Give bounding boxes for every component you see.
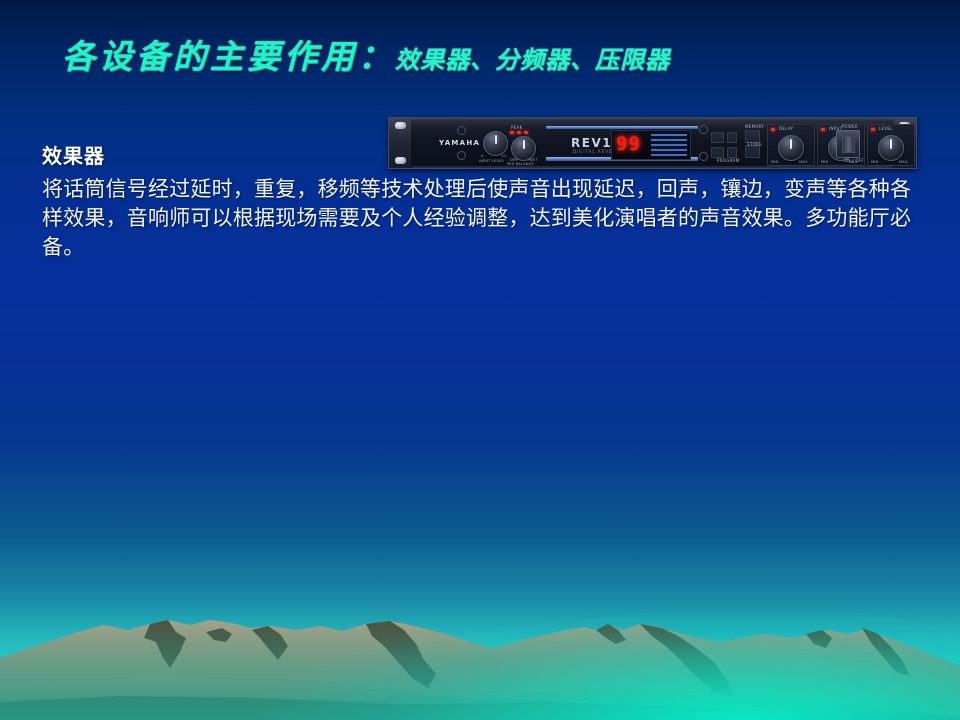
peak-led-icon — [517, 131, 521, 134]
knob-input-level-label: INPUT LEVEL — [479, 159, 504, 163]
program-up-button[interactable] — [711, 147, 724, 158]
slide-title-sub: 效果器、分频器、压限器 — [395, 40, 670, 75]
knob-delay-label: DELAY — [779, 126, 793, 131]
knob-delay-max: MAX — [799, 160, 808, 164]
input-led-icon — [821, 128, 825, 131]
knob-input-level-min: 0 — [481, 154, 484, 158]
knob-input-level[interactable] — [483, 131, 508, 156]
program-select-up-button[interactable] — [727, 132, 737, 143]
panel-screw-icon — [457, 151, 466, 160]
panel-screw-icon — [457, 126, 466, 135]
peak-meter-label: PEAK — [511, 125, 523, 130]
power-switch[interactable] — [836, 130, 860, 158]
slide-title: 各设备的主要作用： 效果器、分频器、压限器 — [62, 30, 670, 78]
knob-level-min: MIN — [871, 160, 878, 164]
rack-screw-icon — [395, 122, 406, 129]
display-parameter-list — [651, 134, 687, 156]
yamaha-rev100-device-image: YAMAHA INPUT LEVEL 0 10 PEAK MIX BALANCE… — [388, 117, 917, 169]
knob-input-level-max: 10 — [501, 154, 506, 158]
section-paragraph: 将话筒信号经过延时，重复，移频等技术处理后使声音出现延迟，回声，镶边，变声等各种… — [42, 175, 932, 262]
knob-delay[interactable] — [778, 135, 804, 161]
program-number-display: 99 — [611, 130, 691, 160]
program-number-value: 99 — [616, 135, 641, 154]
power-state-label: ON / OFF — [844, 158, 864, 163]
store-button-label: STORE — [747, 142, 762, 147]
power-label: POWER — [842, 124, 858, 129]
slide-title-main: 各设备的主要作用： — [62, 30, 395, 78]
mountain-landscape-graphic — [0, 590, 960, 720]
level-led-icon — [871, 128, 875, 131]
knob-mix-balance-label: MIX BALANCE — [507, 162, 534, 166]
panel-accent-strip-top — [546, 126, 698, 129]
rack-ear-left — [389, 118, 413, 168]
yamaha-brand-logo: YAMAHA — [439, 139, 480, 147]
memory-button-label: MEMORY — [745, 124, 764, 129]
slide-canvas: 各设备的主要作用： 效果器、分频器、压限器 效果器 将话筒信号经过延时，重复，移… — [0, 0, 960, 720]
knob-level-label: LEVEL — [879, 126, 893, 131]
peak-led-icon — [524, 131, 528, 134]
panel-screw-icon — [699, 125, 708, 134]
delay-led-icon — [771, 128, 775, 131]
peak-led-icon — [510, 131, 514, 134]
rack-screw-icon — [395, 157, 406, 164]
knob-mix-balance-max: WET — [529, 158, 538, 162]
knob-input-min: MIN — [821, 160, 828, 164]
program-down-button[interactable] — [711, 132, 724, 143]
program-select-down-button[interactable] — [727, 147, 737, 158]
rack-front-panel: YAMAHA INPUT LEVEL 0 10 PEAK MIX BALANCE… — [411, 120, 894, 166]
knob-level-max: MAX — [899, 160, 908, 164]
knob-level[interactable] — [878, 135, 904, 161]
program-section-label: PROGRAM — [717, 158, 739, 163]
panel-screw-icon — [699, 152, 708, 161]
knob-delay-min: MIN — [771, 160, 778, 164]
knob-mix-balance-min: DRY — [510, 158, 518, 162]
